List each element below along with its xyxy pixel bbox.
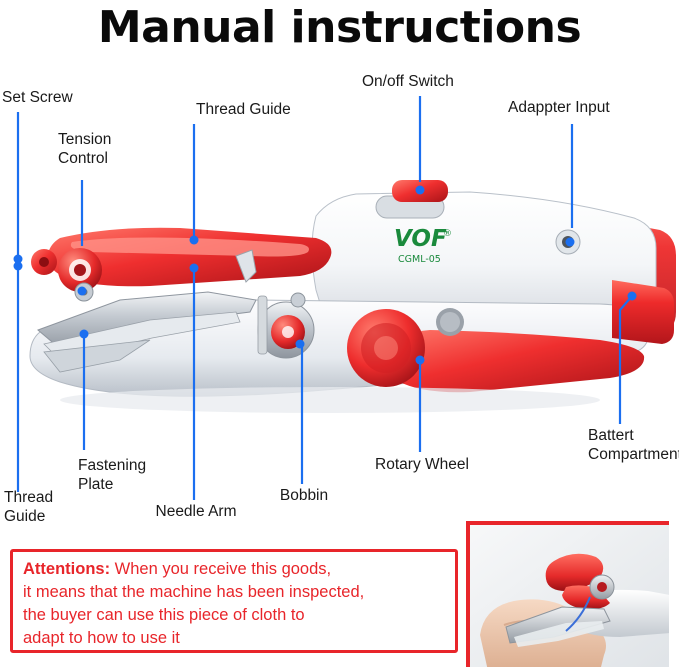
callout-label-tension-control: Tension Control [58, 130, 111, 168]
callout-label-rotary-wheel: Rotary Wheel [356, 455, 488, 474]
callout-label-thread-guide-bottom: Thread Guide [4, 488, 53, 526]
callout-label-fastening-plate: Fastening Plate [78, 456, 146, 494]
callout-label-battery-compartment: Battert Compartment [588, 426, 679, 464]
attention-body: it means that the machine has been inspe… [23, 581, 447, 650]
callout-label-set-screw: Set Screw [2, 88, 73, 107]
svg-text:VOF: VOF [394, 226, 447, 252]
svg-text:®: ® [443, 229, 452, 239]
callout-label-onoff-switch: On/off Switch [362, 72, 454, 91]
callout-label-bobbin: Bobbin [268, 486, 340, 505]
attention-title: Attentions: [23, 560, 110, 578]
inset-photo-hand-holding-device [466, 521, 669, 667]
callout-label-thread-guide-top: Thread Guide [196, 100, 291, 119]
callout-label-adapter-input: Adappter Input [508, 98, 610, 117]
attention-notice: Attentions: When you receive this goods,… [10, 549, 458, 653]
instruction-diagram: Manual instructions [0, 0, 679, 667]
svg-text:CGML-05: CGML-05 [398, 254, 441, 265]
callout-label-needle-arm: Needle Arm [138, 502, 254, 521]
attention-line1: When you receive this goods, [110, 560, 331, 578]
